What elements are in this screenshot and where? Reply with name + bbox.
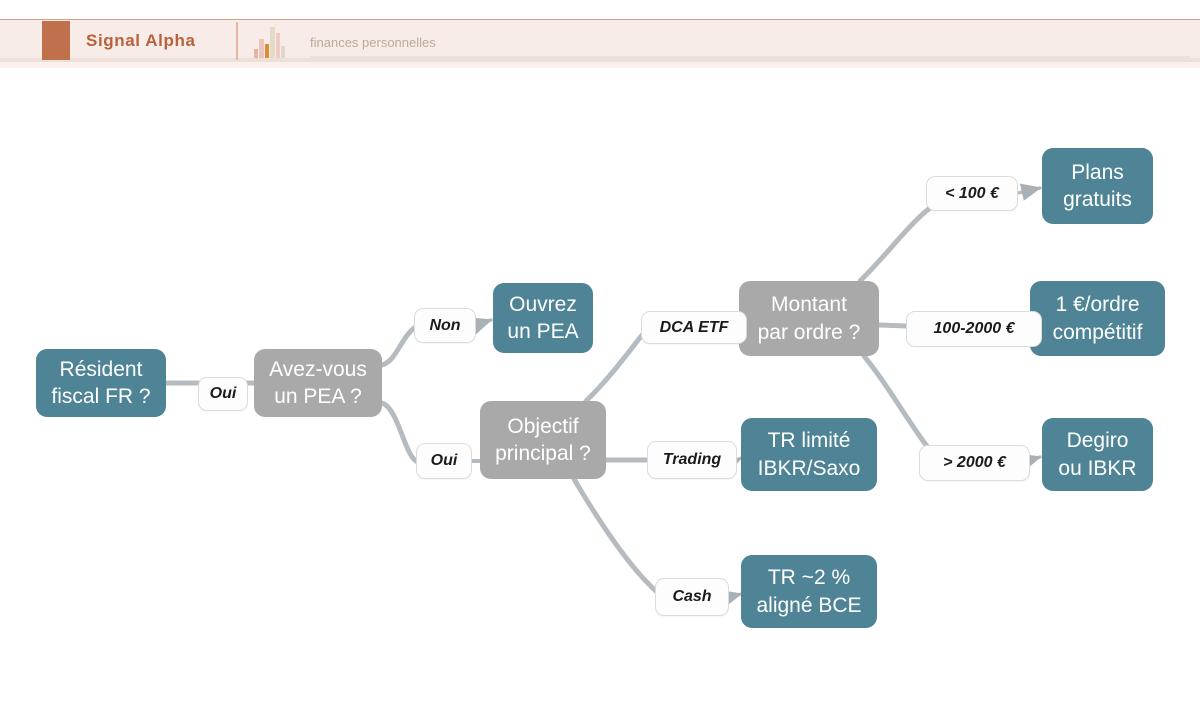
node-1-euro-ordre-competitif[interactable]: 1 €/ordre compétitif — [1030, 281, 1165, 356]
node-line: 1 €/ordre — [1055, 291, 1139, 318]
node-line: Avez-vous — [269, 356, 367, 383]
node-line: Ouvrez — [509, 291, 577, 318]
edge-label-trading[interactable]: Trading — [647, 441, 737, 479]
node-line: par ordre ? — [758, 319, 861, 346]
edge-label-dca-etf[interactable]: DCA ETF — [641, 311, 747, 344]
node-line: un PEA ? — [274, 383, 362, 410]
node-tr-aligne-bce[interactable]: TR ~2 % aligné BCE — [741, 555, 877, 628]
node-tr-limite-ibkr-saxo[interactable]: TR limité IBKR/Saxo — [741, 418, 877, 491]
node-line: TR ~2 % — [768, 564, 850, 591]
edge-label-oui-resident[interactable]: Oui — [198, 377, 248, 411]
edge-label-oui-pea[interactable]: Oui — [416, 443, 472, 479]
node-line: aligné BCE — [756, 592, 861, 619]
node-line: Objectif — [507, 413, 578, 440]
node-line: Plans — [1071, 159, 1124, 186]
node-avez-vous-un-pea[interactable]: Avez-vous un PEA ? — [254, 349, 382, 417]
header-subtitle: finances personnelles — [310, 35, 436, 50]
decision-tree-diagram: Résident fiscal FR ? Avez-vous un PEA ? … — [0, 68, 1200, 721]
brand-title: Signal Alpha — [86, 31, 196, 51]
subtitle-rule — [310, 56, 1190, 59]
edge-label-gt-2000-eur[interactable]: > 2000 € — [919, 445, 1030, 481]
node-line: ou IBKR — [1058, 455, 1136, 482]
brand-accent-block — [42, 21, 70, 60]
node-line: fiscal FR ? — [51, 383, 150, 410]
node-degiro-ou-ibkr[interactable]: Degiro ou IBKR — [1042, 418, 1153, 491]
connector-lines — [0, 68, 1200, 721]
edge-label-100-2000-eur[interactable]: 100-2000 € — [906, 311, 1042, 347]
node-line: principal ? — [495, 440, 591, 467]
bar-chart-icon — [252, 22, 290, 60]
header-divider — [236, 22, 238, 60]
edge-label-lt-100-eur[interactable]: < 100 € — [926, 176, 1018, 211]
node-line: compétitif — [1053, 319, 1143, 346]
edge-label-non-pea[interactable]: Non — [414, 308, 476, 343]
node-line: Degiro — [1067, 427, 1129, 454]
node-objectif-principal[interactable]: Objectif principal ? — [480, 401, 606, 479]
node-resident-fiscal-fr[interactable]: Résident fiscal FR ? — [36, 349, 166, 417]
node-line: Résident — [60, 356, 143, 383]
node-montant-par-ordre[interactable]: Montant par ordre ? — [739, 281, 879, 356]
node-ouvrez-un-pea[interactable]: Ouvrez un PEA — [493, 283, 593, 353]
edge-label-cash[interactable]: Cash — [655, 578, 729, 616]
node-plans-gratuits[interactable]: Plans gratuits — [1042, 148, 1153, 224]
node-line: Montant — [771, 291, 847, 318]
node-line: IBKR/Saxo — [758, 455, 861, 482]
node-line: TR limité — [768, 427, 851, 454]
node-line: gratuits — [1063, 186, 1132, 213]
node-line: un PEA — [507, 318, 578, 345]
